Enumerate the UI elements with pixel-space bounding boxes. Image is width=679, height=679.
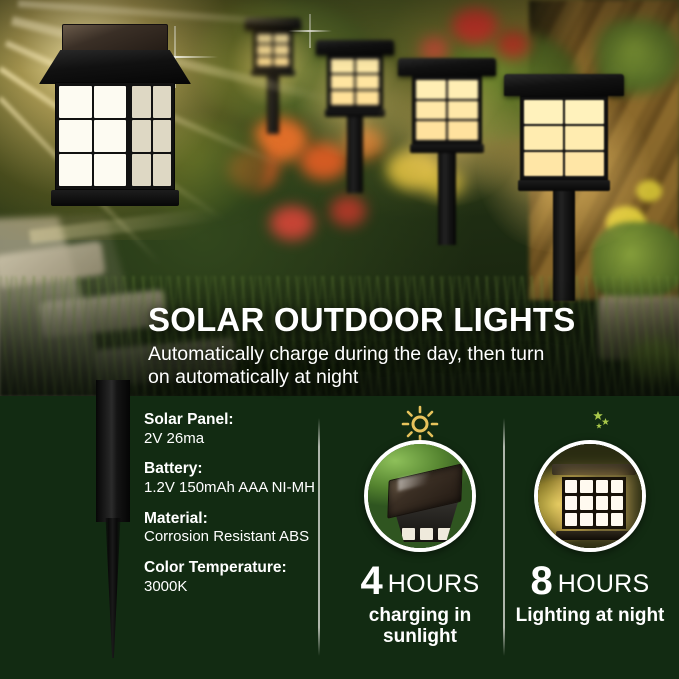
lantern-base — [51, 190, 179, 206]
lantern-pane — [132, 120, 150, 152]
lantern-pane — [132, 86, 150, 118]
lantern-post-lower — [96, 380, 130, 522]
lantern-body — [55, 82, 175, 190]
lantern-pane-grid — [521, 97, 607, 179]
lantern-roof — [245, 18, 301, 30]
solar-panel-closeup-photo — [364, 440, 476, 552]
lantern-pane — [94, 154, 127, 186]
feature-caption: Lighting at night — [508, 605, 672, 626]
lantern-pane — [565, 496, 577, 509]
lantern-pane-grid — [328, 56, 382, 108]
lantern-post — [553, 191, 575, 301]
lantern-pane-grid — [413, 77, 481, 143]
lantern-pane — [565, 100, 604, 124]
moon-stars-icon — [508, 406, 672, 442]
feature-charging: 4HOURS charging in sunlight — [338, 406, 502, 648]
feature-unit: HOURS — [558, 570, 650, 598]
lantern-body — [520, 96, 608, 180]
lantern-pane — [153, 154, 171, 186]
lantern-pane — [153, 120, 171, 152]
lantern-pane — [402, 528, 415, 540]
feature-hours: 4HOURS — [338, 561, 502, 601]
lantern-body — [412, 76, 482, 144]
spec-label: Battery: — [144, 459, 322, 479]
lantern-roof — [504, 74, 624, 96]
lantern-pane — [580, 480, 592, 493]
lantern-pane — [580, 496, 592, 509]
page-subtitle: Automatically charge during the day, the… — [148, 343, 548, 389]
lantern-pane — [565, 152, 604, 176]
lantern-pane — [257, 57, 272, 66]
lantern-pane-grid — [562, 477, 626, 529]
lantern-pane — [524, 152, 563, 176]
spec-label: Color Temperature: — [144, 558, 322, 578]
lantern-pane — [596, 513, 608, 526]
spec-item: Color Temperature: 3000K — [144, 558, 322, 596]
red-flower-blob — [452, 8, 498, 44]
lantern-pane — [420, 528, 433, 540]
lantern-pane — [356, 75, 379, 89]
spec-value: 2V 26ma — [144, 430, 322, 449]
lantern-pane — [448, 121, 478, 140]
lantern-pane — [524, 100, 563, 124]
red-flower-blob — [330, 196, 366, 226]
lantern-pane — [331, 75, 354, 89]
feature-caption: charging in sunlight — [338, 605, 502, 648]
feature-unit: HOURS — [388, 570, 480, 598]
feature-lighting: 8HOURS Lighting at night — [508, 406, 672, 626]
lantern-pane-grid-front — [56, 83, 129, 189]
lantern-base — [410, 144, 484, 153]
lantern-post — [438, 153, 456, 245]
column-divider — [503, 418, 505, 656]
lantern-pane — [274, 57, 289, 66]
lantern-pane — [356, 59, 379, 73]
lantern-pane — [59, 120, 92, 152]
lantern-pane — [596, 480, 608, 493]
spec-label: Material: — [144, 509, 322, 529]
lantern-pane — [94, 120, 127, 152]
solar-panel-cap — [62, 24, 168, 52]
lantern-roof — [552, 464, 636, 475]
sun-icon — [338, 406, 502, 442]
red-flower-blob — [270, 206, 314, 240]
feature-hours: 8HOURS — [508, 561, 672, 601]
orange-flower-blob — [300, 142, 348, 180]
page-title: SOLAR OUTDOOR LIGHTS — [148, 303, 668, 337]
lantern-pane — [596, 496, 608, 509]
lantern-pane — [611, 480, 623, 493]
lantern-base — [556, 531, 632, 540]
lantern-base — [325, 109, 385, 117]
lantern-pane — [132, 154, 150, 186]
lantern-pane-grid — [254, 31, 292, 69]
lantern-pane-grid-side — [129, 83, 174, 189]
feature-number: 4 — [360, 559, 382, 603]
lantern-body — [253, 30, 293, 70]
lantern-pane — [94, 86, 127, 118]
spec-value: Corrosion Resistant ABS — [144, 528, 322, 547]
lantern-pane — [59, 154, 92, 186]
lantern-pane — [565, 126, 604, 150]
red-flower-blob — [496, 30, 530, 58]
lantern-roof — [316, 40, 394, 55]
lantern-pane — [565, 480, 577, 493]
lantern-roof — [39, 50, 191, 84]
lantern-pane — [331, 91, 354, 105]
spec-item: Material: Corrosion Resistant ABS — [144, 509, 322, 547]
lantern-pane — [331, 59, 354, 73]
feature-number: 8 — [530, 559, 552, 603]
lantern-pane — [611, 513, 623, 526]
lantern-pane — [257, 34, 272, 43]
spec-value: 1.2V 150mAh AAA NI-MH — [144, 479, 322, 498]
lantern-pane — [416, 101, 446, 120]
spec-item: Battery: 1.2V 150mAh AAA NI-MH — [144, 459, 322, 497]
lantern-pane — [524, 126, 563, 150]
lantern-pane — [356, 91, 379, 105]
spec-item: Solar Panel: 2V 26ma — [144, 410, 322, 448]
yellow-flower-blob — [636, 180, 662, 202]
lantern-pane — [274, 34, 289, 43]
headline-block: SOLAR OUTDOOR LIGHTS Automatically charg… — [148, 303, 668, 389]
lantern-pane — [611, 496, 623, 509]
lantern-roof — [398, 58, 496, 76]
spec-value: 3000K — [144, 578, 322, 597]
lantern-pane — [448, 80, 478, 99]
lantern-pane — [565, 513, 577, 526]
lantern-pane — [59, 86, 92, 118]
lit-lantern-night-photo — [534, 440, 646, 552]
lantern-post — [347, 117, 363, 193]
lantern-body — [327, 55, 383, 109]
lantern-post — [267, 76, 279, 134]
lantern-pane — [448, 101, 478, 120]
lantern-pane — [580, 513, 592, 526]
lantern-pane — [153, 86, 171, 118]
lantern-pane — [416, 121, 446, 140]
lantern-pane — [257, 45, 272, 54]
lantern-pane — [274, 45, 289, 54]
lantern-pane — [416, 80, 446, 99]
product-ad-image: SOLAR OUTDOOR LIGHTS Automatically charg… — [0, 0, 679, 679]
lantern-base — [518, 180, 610, 191]
specs-list: Solar Panel: 2V 26ma Battery: 1.2V 150mA… — [144, 410, 322, 608]
spec-label: Solar Panel: — [144, 410, 322, 430]
